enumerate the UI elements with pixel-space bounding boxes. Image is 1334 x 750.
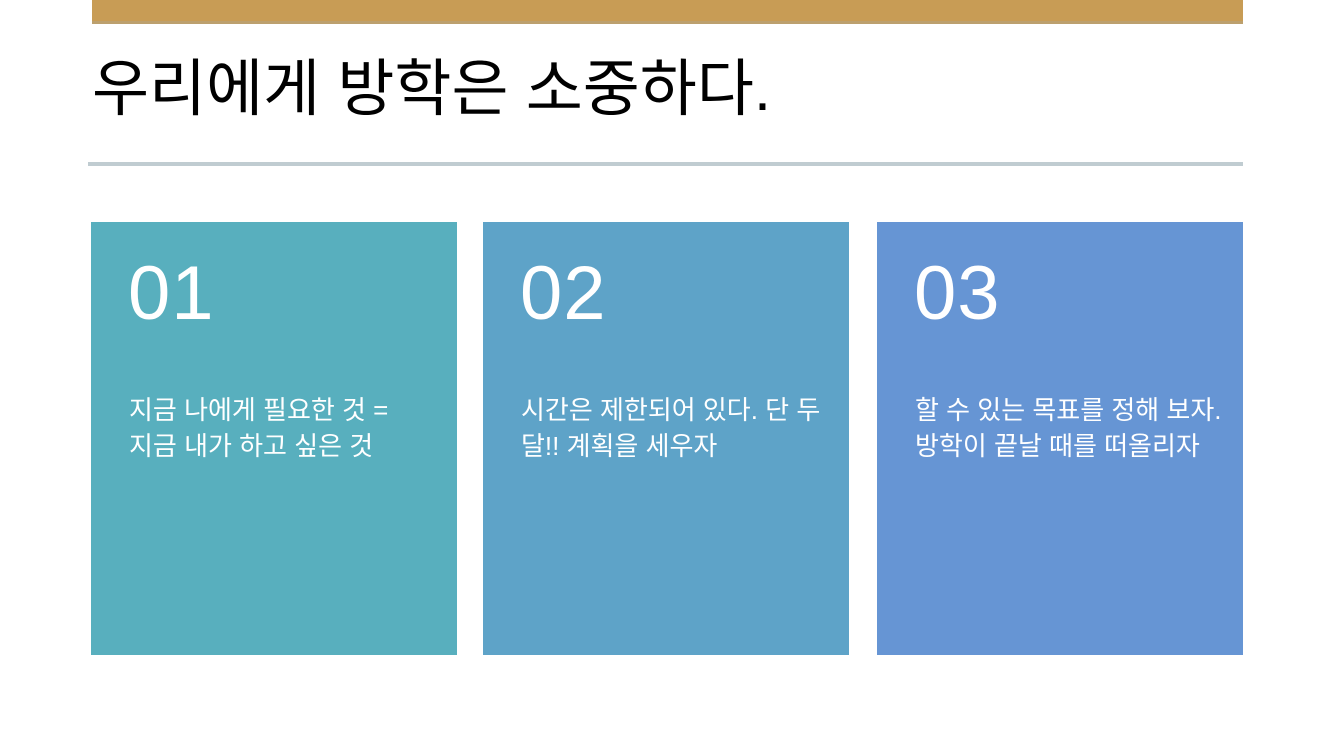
card-number-02: 02	[520, 250, 607, 338]
card-body-01: 지금 나에게 필요한 것 = 지금 내가 하고 싶은 것	[129, 392, 441, 464]
presentation-slide: 우리에게 방학은 소중하다. 01 지금 나에게 필요한 것 = 지금 내가 하…	[0, 0, 1334, 750]
top-accent-bar	[92, 0, 1243, 21]
top-accent-bar-shadow	[92, 21, 1243, 24]
title-divider	[88, 162, 1243, 166]
card-number-03: 03	[914, 250, 1001, 338]
card-number-01: 01	[128, 250, 215, 338]
info-card-02[interactable]: 02 시간은 제한되어 있다. 단 두 달!! 계획을 세우자	[483, 222, 849, 655]
card-row: 01 지금 나에게 필요한 것 = 지금 내가 하고 싶은 것 02 시간은 제…	[91, 222, 1243, 655]
card-body-02: 시간은 제한되어 있다. 단 두 달!! 계획을 세우자	[521, 392, 833, 464]
info-card-03[interactable]: 03 할 수 있는 목표를 정해 보자. 방학이 끝날 때를 떠올리자	[877, 222, 1243, 655]
page-title: 우리에게 방학은 소중하다.	[92, 47, 1252, 132]
info-card-01[interactable]: 01 지금 나에게 필요한 것 = 지금 내가 하고 싶은 것	[91, 222, 457, 655]
card-body-03: 할 수 있는 목표를 정해 보자. 방학이 끝날 때를 떠올리자	[915, 392, 1235, 464]
